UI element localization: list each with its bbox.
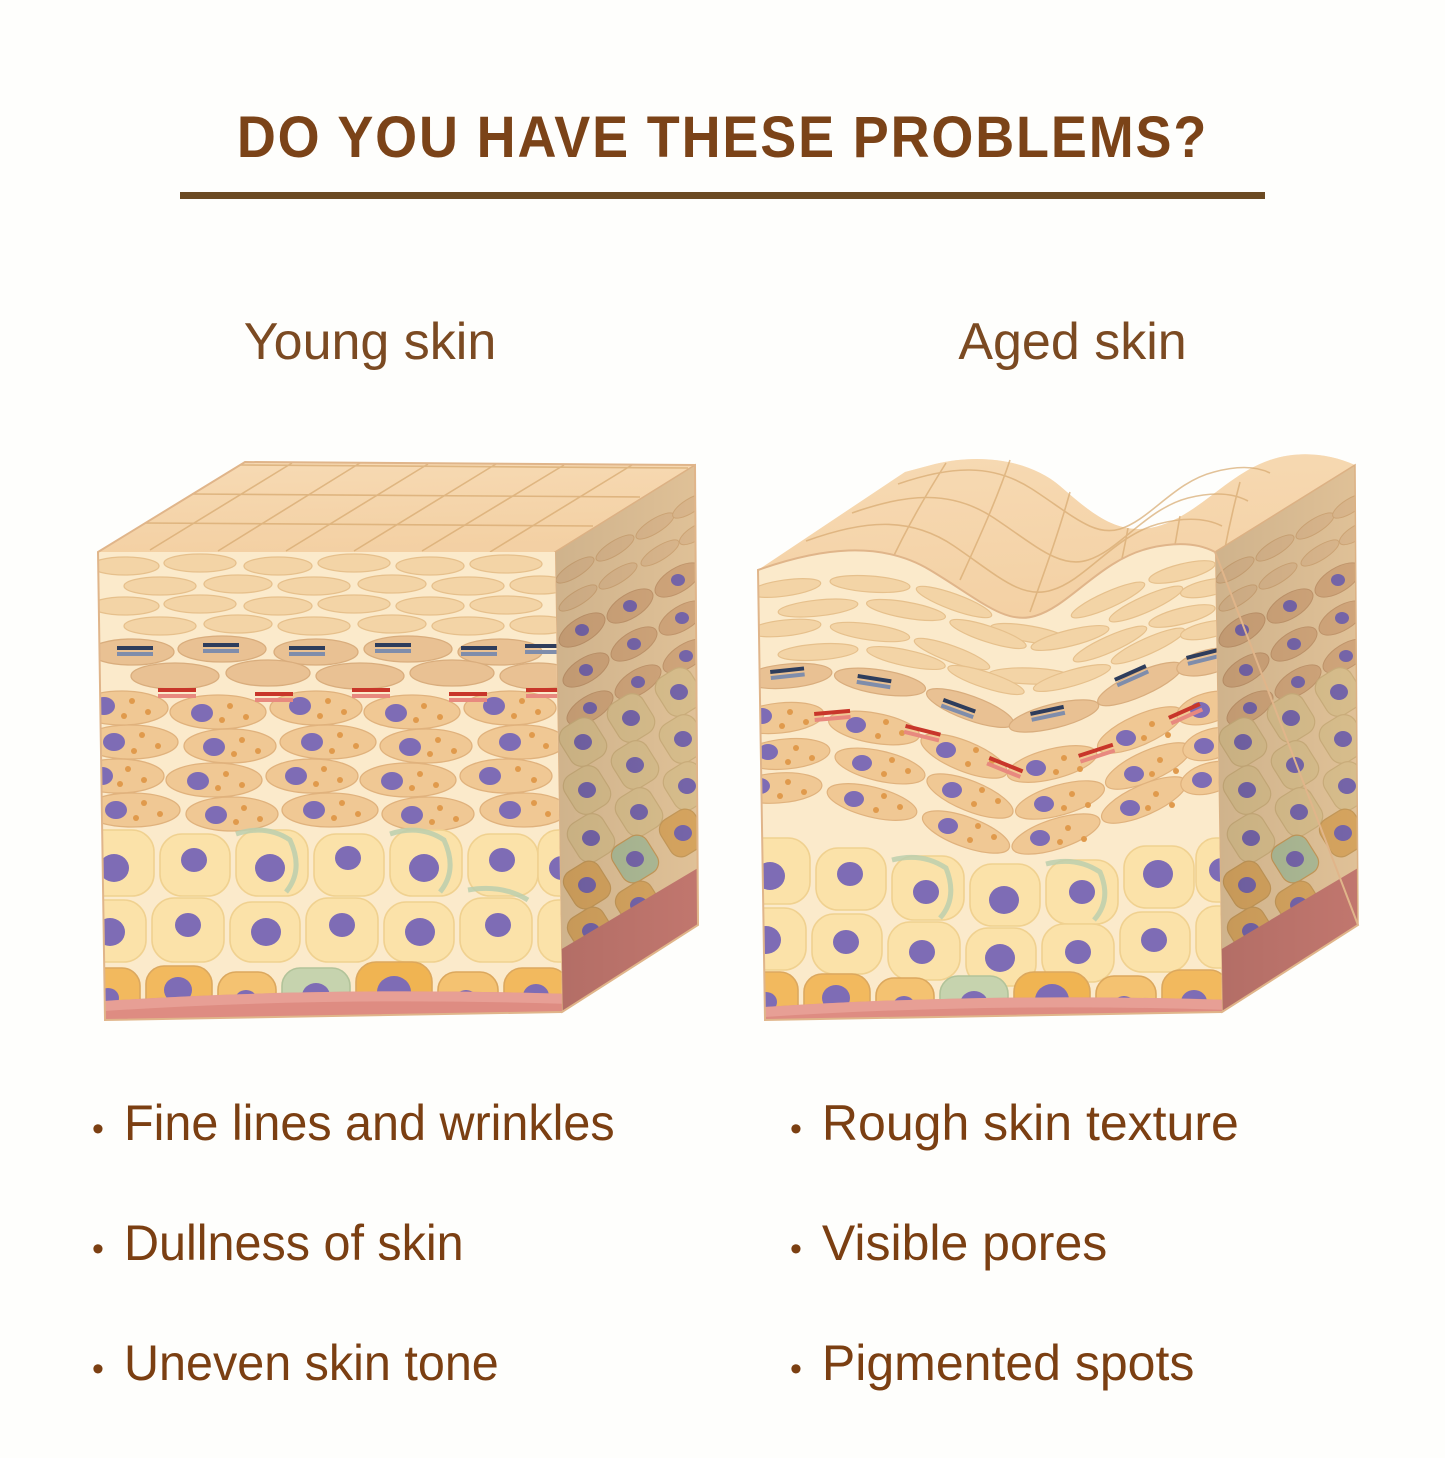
bullet-marker-icon: •	[790, 1232, 802, 1266]
list-item-label: Visible pores	[822, 1218, 1107, 1268]
column-heading-young: Young skin	[0, 312, 740, 372]
column-heading-aged: Aged skin	[700, 312, 1445, 372]
list-item: • Visible pores	[790, 1218, 1410, 1338]
list-item: • Pigmented spots	[790, 1338, 1410, 1458]
list-item-label: Rough skin texture	[822, 1098, 1239, 1148]
list-item-label: Dullness of skin	[124, 1218, 464, 1268]
infographic-page: DO YOU HAVE THESE PROBLEMS? Young skin A…	[0, 0, 1445, 1445]
bullet-marker-icon: •	[92, 1232, 104, 1266]
list-item: • Dullness of skin	[92, 1218, 752, 1338]
list-item-label: Uneven skin tone	[124, 1338, 499, 1388]
page-title: DO YOU HAVE THESE PROBLEMS?	[51, 104, 1395, 171]
title-underline-rule	[180, 192, 1265, 199]
aged-skin-problem-list: • Rough skin texture • Visible pores • P…	[790, 1098, 1410, 1458]
list-item: • Fine lines and wrinkles	[92, 1098, 752, 1218]
young-skin-problem-list: • Fine lines and wrinkles • Dullness of …	[92, 1098, 752, 1458]
bullet-marker-icon: •	[92, 1352, 104, 1386]
list-item-label: Pigmented spots	[822, 1338, 1194, 1388]
aged-skin-diagram	[730, 420, 1380, 1045]
bullet-marker-icon: •	[790, 1352, 802, 1386]
young-skin-diagram	[70, 420, 720, 1045]
bullet-marker-icon: •	[790, 1112, 802, 1146]
list-item: • Rough skin texture	[790, 1098, 1410, 1218]
list-item: • Uneven skin tone	[92, 1338, 752, 1458]
list-item-label: Fine lines and wrinkles	[124, 1098, 615, 1148]
bullet-marker-icon: •	[92, 1112, 104, 1146]
